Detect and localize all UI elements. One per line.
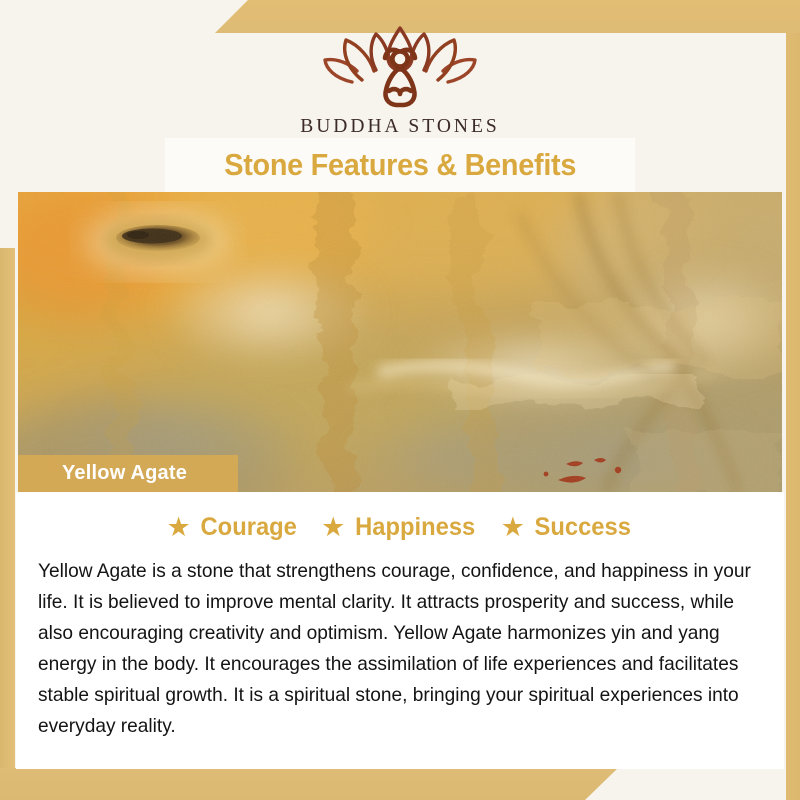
keyword-item-success: ★ Success [501,513,634,542]
content-panel: ★ Courage ★ Happiness ★ Success Yellow A… [16,492,784,769]
gold-frame-left [0,248,15,768]
stone-description: Yellow Agate is a stone that strengthens… [38,556,751,742]
stone-image: Yellow Agate [18,192,782,492]
star-icon: ★ [167,514,191,541]
keyword-item-courage: ★ Courage [167,513,300,542]
title-banner: Stone Features & Benefits [165,138,635,192]
yellow-agate-texture [18,192,782,492]
page-title: Stone Features & Benefits [224,147,576,183]
brand-logo: BUDDHA STONES [0,22,800,142]
keyword-label: Courage [200,513,296,542]
gold-frame-right [786,33,800,800]
keyword-label: Happiness [356,513,476,542]
star-icon: ★ [501,514,525,541]
keyword-list: ★ Courage ★ Happiness ★ Success [16,492,784,542]
infographic-page: BUDDHA STONES Stone Features & Benefits [0,0,800,800]
brand-name: BUDDHA STONES [300,116,500,138]
star-icon: ★ [321,514,345,541]
stone-name-badge: Yellow Agate [18,455,238,492]
gold-frame-bottom [0,768,618,800]
keyword-label: Success [535,513,631,542]
lotus-meditation-figure-icon [316,22,484,114]
keyword-item-happiness: ★ Happiness [321,513,479,542]
stone-name-label: Yellow Agate [18,462,187,485]
